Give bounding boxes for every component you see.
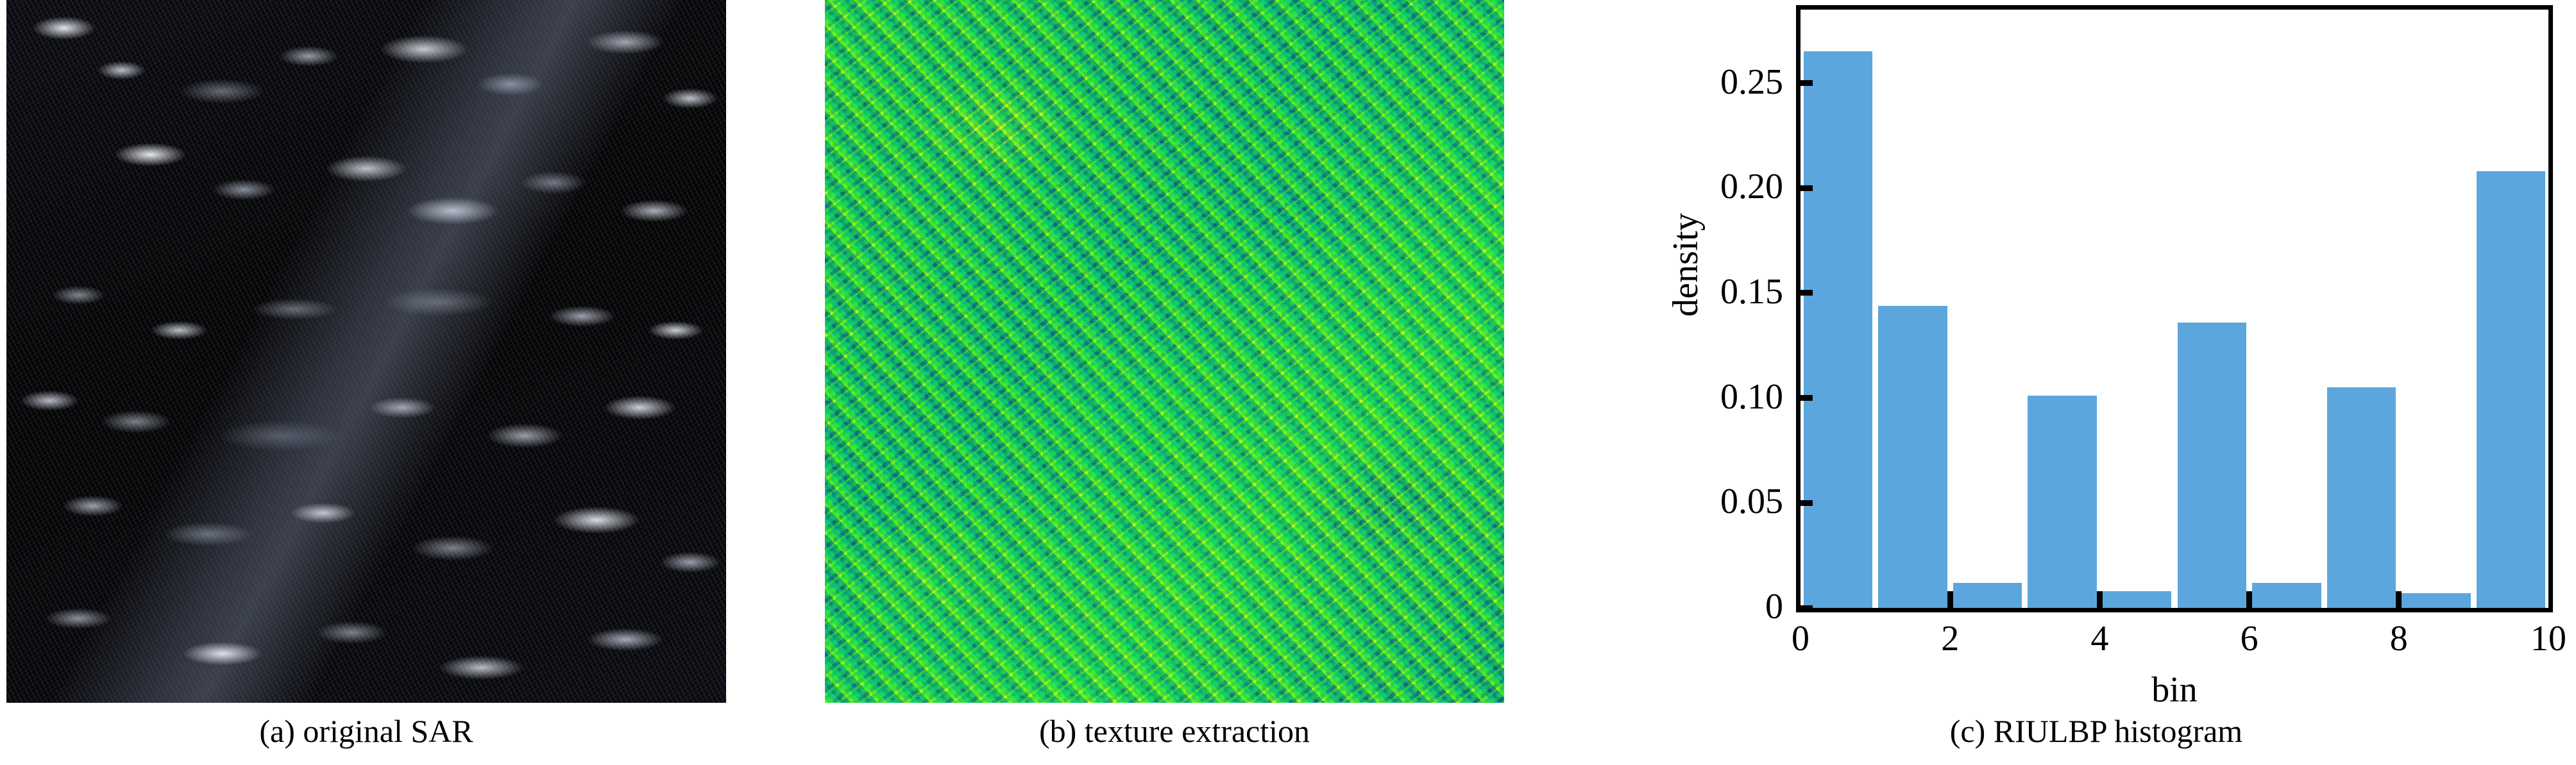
y-tick-mark-2 <box>1796 395 1813 401</box>
bar-bin-3 <box>2028 396 2096 608</box>
x-tick-mark-4 <box>2396 591 2402 608</box>
y-tick-mark-0 <box>1796 605 1813 611</box>
x-tick-label-0: 0 <box>1756 621 1845 657</box>
y-tick-mark-3 <box>1796 290 1813 296</box>
y-tick-label-0.20: 0.20 <box>1629 169 1783 205</box>
y-tick-label-0.05: 0.05 <box>1629 483 1783 519</box>
bar-bin-1 <box>1878 306 1947 608</box>
bar-bin-0 <box>1804 51 1872 608</box>
panel-texture-extraction: (b) texture extraction <box>825 0 1524 765</box>
bar-bin-6 <box>2252 583 2321 608</box>
y-tick-label-0.10: 0.10 <box>1629 379 1783 415</box>
x-axis-label: bin <box>1796 672 2553 708</box>
bar-bin-4 <box>2103 591 2171 608</box>
x-tick-mark-1 <box>1947 591 1953 608</box>
caption-panel-b: (b) texture extraction <box>825 715 1524 747</box>
bar-bin-2 <box>1953 583 2022 608</box>
bars-layer <box>1801 10 2548 608</box>
x-tick-label-2: 2 <box>1905 621 1995 657</box>
riulbp-histogram-chart: density 00.050.100.150.200.25 0246810 bi… <box>1616 0 2576 703</box>
x-tick-label-4: 4 <box>2055 621 2144 657</box>
x-tick-label-10: 10 <box>2504 621 2576 657</box>
bar-bin-9 <box>2477 171 2545 608</box>
caption-panel-c: (c) RIULBP histogram <box>1616 715 2576 747</box>
bar-bin-8 <box>2402 593 2470 608</box>
x-tick-label-6: 6 <box>2205 621 2294 657</box>
plot-area <box>1796 5 2553 612</box>
bar-bin-7 <box>2327 387 2396 608</box>
panel-riulbp-histogram: density 00.050.100.150.200.25 0246810 bi… <box>1616 0 2576 765</box>
x-tick-mark-3 <box>2246 591 2252 608</box>
bar-bin-5 <box>2178 323 2246 608</box>
y-tick-label-0: 0 <box>1629 589 1783 625</box>
panel-original-sar: (a) original SAR <box>6 0 726 765</box>
x-tick-mark-2 <box>2097 591 2103 608</box>
y-tick-mark-5 <box>1796 80 1813 86</box>
y-tick-mark-4 <box>1796 185 1813 191</box>
viridis-texture-image <box>825 0 1504 703</box>
y-tick-label-0.15: 0.15 <box>1629 274 1783 310</box>
caption-panel-a: (a) original SAR <box>6 715 726 747</box>
x-tick-label-8: 8 <box>2354 621 2444 657</box>
sar-grayscale-image <box>6 0 726 703</box>
y-tick-label-0.25: 0.25 <box>1629 64 1783 100</box>
figure-root: (a) original SAR (b) texture extraction … <box>0 0 2576 765</box>
y-tick-mark-1 <box>1796 500 1813 506</box>
